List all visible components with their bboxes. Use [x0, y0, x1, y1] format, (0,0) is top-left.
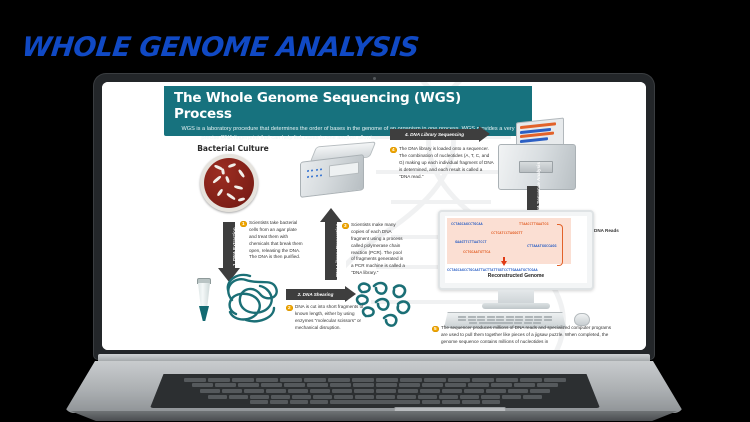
- laptop-hinge: [98, 354, 650, 362]
- keyboard-key[interactable]: [354, 389, 374, 393]
- monitor: CCTAGCAGCCTGCAA TTAACCTTGAATCG CCTCATCCT…: [438, 210, 594, 290]
- step-text: Scientists take bacterial cells from an …: [249, 220, 304, 261]
- keyboard-key[interactable]: [398, 389, 418, 393]
- keyboard-key[interactable]: [462, 400, 480, 404]
- keyboard-key[interactable]: [530, 389, 550, 393]
- callout-step-4: 4 The DNA library is loaded onto a seque…: [390, 146, 494, 180]
- keyboard-key[interactable]: [376, 378, 398, 382]
- keyboard-key[interactable]: [537, 383, 558, 387]
- dna-fragments-icon: [354, 278, 416, 328]
- keyboard-key[interactable]: [208, 378, 230, 382]
- keyboard-key[interactable]: [424, 378, 446, 382]
- agar-surface: [204, 158, 254, 208]
- keyboard-key[interactable]: [284, 383, 305, 387]
- keyboard-key[interactable]: [422, 383, 443, 387]
- keyboard-key[interactable]: [508, 389, 528, 393]
- keyboard-row: [150, 400, 600, 404]
- reconstructed-genome-sequence: CCTAGCAGCCTGCAATTACTTATTGGTCCTTGAAATGCTC…: [447, 268, 538, 272]
- callout-step-5: 5 The sequencer produces millions of DNA…: [432, 325, 618, 346]
- keyboard-key[interactable]: [215, 383, 236, 387]
- keyboard-key[interactable]: [353, 383, 374, 387]
- keyboard-key[interactable]: [486, 389, 506, 393]
- dna-read: CTTAAATGGCCAGG: [527, 244, 557, 248]
- step-text: The sequencer produces millions of DNA r…: [441, 325, 618, 346]
- webcam-icon: [373, 77, 376, 80]
- infographic-title: The Whole Genome Sequencing (WGS) Proces…: [174, 90, 522, 122]
- keyboard-key[interactable]: [250, 395, 269, 399]
- monitor-screen: CCTAGCAGCCTGCAA TTAACCTTGAATCG CCTCATCCT…: [445, 216, 587, 283]
- dna-read: CCTAGCAGCCTGCAA: [451, 222, 483, 226]
- callout-step-1: 1 Scientists take bacterial cells from a…: [240, 220, 304, 261]
- keyboard-key[interactable]: [256, 378, 278, 382]
- keyboard-key[interactable]: [544, 378, 566, 382]
- keyboard-key[interactable]: [442, 400, 460, 404]
- arrow-label-step-4: 4. DNA Library Sequencing: [401, 132, 468, 137]
- arrow-step-3: 3. DNA Library Preparation: [320, 208, 342, 280]
- laptop-keyboard: [150, 374, 600, 408]
- microtube-icon: [196, 278, 212, 322]
- assembly-arrow-icon: [501, 261, 507, 266]
- keyboard-key[interactable]: [482, 400, 500, 404]
- keyboard-key[interactable]: [292, 395, 311, 399]
- keyboard-key[interactable]: [400, 378, 422, 382]
- keyboard-key[interactable]: [208, 395, 227, 399]
- keyboard-key[interactable]: [502, 395, 521, 399]
- computer-analysis-icon: CCTAGCAGCCTGCAA TTAACCTTGAATCG CCTCATCCT…: [430, 210, 602, 330]
- slide-canvas: WHOLE GENOME ANALYSIS The Wh: [0, 0, 750, 422]
- keyboard-key[interactable]: [523, 395, 542, 399]
- keyboard-key[interactable]: [399, 383, 420, 387]
- keyboard-key[interactable]: [491, 383, 512, 387]
- keyboard-key[interactable]: [442, 389, 462, 393]
- keyboard-key[interactable]: [307, 383, 328, 387]
- keyboard-key[interactable]: [422, 400, 440, 404]
- reads-brace: [557, 224, 563, 266]
- keyboard-key[interactable]: [448, 378, 470, 382]
- keyboard-key[interactable]: [330, 400, 420, 404]
- keyboard-key[interactable]: [445, 383, 466, 387]
- keyboard-key[interactable]: [238, 383, 259, 387]
- callout-step-3: 3 Scientists make many copies of each DN…: [342, 222, 406, 277]
- laptop-foot: [58, 411, 690, 421]
- keyboard-key[interactable]: [232, 378, 254, 382]
- laptop-lid: The Whole Genome Sequencing (WGS) Proces…: [94, 74, 654, 359]
- laptop-base: [64, 354, 684, 422]
- laptop-body: [64, 361, 684, 413]
- laptop-mockup: The Whole Genome Sequencing (WGS) Proces…: [94, 74, 654, 364]
- step-text: Scientists make many copies of each DNA …: [351, 222, 406, 277]
- keyboard-row: [150, 378, 600, 382]
- keyboard-key[interactable]: [397, 395, 416, 399]
- keyboard-key[interactable]: [376, 389, 396, 393]
- keyboard-key[interactable]: [266, 389, 286, 393]
- dna-read: CCTCATCCTAGGGTT: [491, 231, 523, 235]
- keyboard-key[interactable]: [271, 395, 290, 399]
- laptop-screen: The Whole Genome Sequencing (WGS) Proces…: [102, 82, 646, 350]
- keyboard-key[interactable]: [355, 395, 374, 399]
- infographic: The Whole Genome Sequencing (WGS) Proces…: [102, 82, 646, 350]
- keyboard-key[interactable]: [376, 383, 397, 387]
- pcr-machine-icon: [300, 144, 374, 206]
- dna-read: GAAGTTCTTAATCCT: [455, 240, 487, 244]
- keyboard-key[interactable]: [192, 383, 213, 387]
- keyboard-key[interactable]: [330, 383, 351, 387]
- keyboard-key[interactable]: [328, 378, 350, 382]
- keyboard-key[interactable]: [460, 395, 479, 399]
- arrow-step-2: 2. DNA Shearing: [286, 286, 356, 302]
- keyboard-key[interactable]: [481, 395, 500, 399]
- keyboard-row: [150, 395, 600, 399]
- petri-dish-icon: [200, 154, 258, 212]
- keyboard-key[interactable]: [496, 378, 518, 382]
- dna-read: TTAACCTTGAATCG: [519, 222, 549, 226]
- step-number-badge: 2: [286, 305, 293, 312]
- keyboard-key[interactable]: [418, 395, 437, 399]
- monitor-stand: [498, 290, 534, 304]
- keyboard-key[interactable]: [229, 395, 248, 399]
- keyboard-key[interactable]: [464, 389, 484, 393]
- keyboard-key[interactable]: [468, 383, 489, 387]
- keyboard-key[interactable]: [334, 395, 353, 399]
- keyboard-row: [150, 389, 600, 393]
- step-text: The DNA library is loaded onto a sequenc…: [399, 146, 494, 180]
- step-number-badge: 5: [432, 326, 439, 333]
- arrow-label-step-1: 1. DNA Extraction: [232, 227, 237, 266]
- keyboard-key[interactable]: [304, 378, 326, 382]
- dna-reads-panel: CCTAGCAGCCTGCAA TTAACCTTGAATCG CCTCATCCT…: [447, 218, 571, 264]
- monitor-base: [482, 303, 550, 309]
- keyboard-key[interactable]: [261, 383, 282, 387]
- keyboard-key[interactable]: [439, 395, 458, 399]
- keyboard-key[interactable]: [244, 389, 264, 393]
- keyboard-key[interactable]: [310, 400, 328, 404]
- keyboard-key[interactable]: [520, 378, 542, 382]
- keyboard-row: [150, 383, 600, 387]
- keyboard-key[interactable]: [270, 400, 288, 404]
- arrow-label-step-3: 3. DNA Library Preparation: [335, 223, 340, 282]
- page-title: WHOLE GENOME ANALYSIS: [20, 32, 420, 63]
- step-number-badge: 1: [240, 221, 247, 228]
- keyboard-key[interactable]: [200, 389, 220, 393]
- keyboard-key[interactable]: [352, 378, 374, 382]
- keyboard-key[interactable]: [376, 395, 395, 399]
- dna-read: CCTGCAATGTTCA: [463, 250, 490, 254]
- tangled-dna-icon: [220, 270, 282, 328]
- keyboard-key[interactable]: [313, 395, 332, 399]
- keyboard-key[interactable]: [514, 383, 535, 387]
- arrow-label-step-2: 2. DNA Shearing: [294, 292, 338, 297]
- keyboard-key[interactable]: [222, 389, 242, 393]
- keyboard-key[interactable]: [310, 389, 330, 393]
- dna-reads-label: DNA Reads: [594, 228, 624, 234]
- bacterial-culture-label: Bacterial Culture: [178, 144, 288, 153]
- keyboard-key[interactable]: [290, 400, 308, 404]
- keyboard-key[interactable]: [280, 378, 302, 382]
- keyboard-key[interactable]: [184, 378, 206, 382]
- keyboard-key[interactable]: [250, 400, 268, 404]
- keyboard-key[interactable]: [288, 389, 308, 393]
- step-number-badge: 4: [390, 147, 397, 154]
- keyboard-key[interactable]: [420, 389, 440, 393]
- keyboard-key[interactable]: [472, 378, 494, 382]
- arrow-step-4: 4. DNA Library Sequencing: [390, 126, 490, 142]
- reconstructed-genome-label: Reconstructed Genome: [445, 273, 587, 279]
- keyboard-key[interactable]: [332, 389, 352, 393]
- step-number-badge: 3: [342, 223, 349, 230]
